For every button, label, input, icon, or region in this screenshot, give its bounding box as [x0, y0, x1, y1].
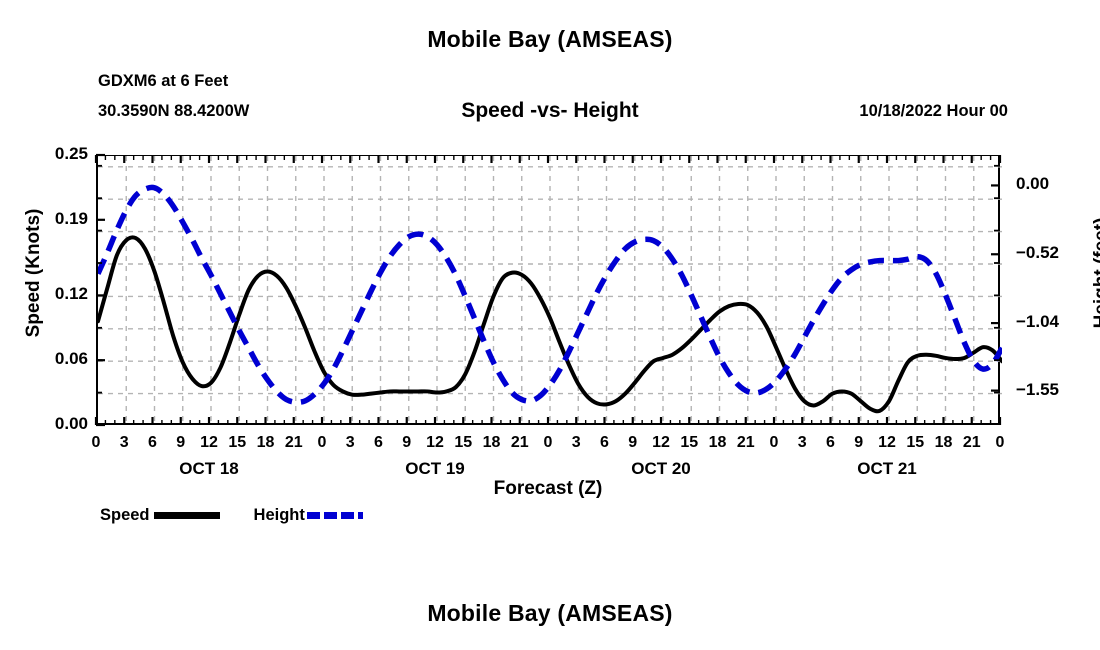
y-axis-left-title: Speed (Knots)	[23, 173, 45, 373]
legend-item-height: Height	[254, 506, 363, 525]
legend-swatch-height-icon	[307, 512, 363, 519]
chart-top-title: Mobile Bay (AMSEAS)	[0, 26, 1100, 53]
x-axis-day-label: OCT 21	[857, 459, 917, 479]
x-axis-day-label: OCT 18	[179, 459, 239, 479]
legend-item-speed: Speed	[100, 506, 254, 525]
legend-swatch-speed-icon	[154, 512, 220, 519]
chart-bottom-title: Mobile Bay (AMSEAS)	[0, 600, 1100, 627]
axis-tick-marks	[60, 140, 1040, 440]
legend-label-speed: Speed	[100, 506, 150, 525]
legend-label-height: Height	[254, 506, 305, 525]
model-run-info: 10/18/2022 Hour 00	[859, 102, 1008, 121]
y-axis-right-title: Height (feet)	[1091, 173, 1100, 373]
x-axis-day-label: OCT 20	[631, 459, 691, 479]
chart-legend: Speed Height	[100, 506, 363, 525]
station-name-depth: GDXM6 at 6 Feet	[98, 72, 228, 91]
x-axis-title: Forecast (Z)	[96, 478, 1000, 500]
x-axis-day-label: OCT 19	[405, 459, 465, 479]
